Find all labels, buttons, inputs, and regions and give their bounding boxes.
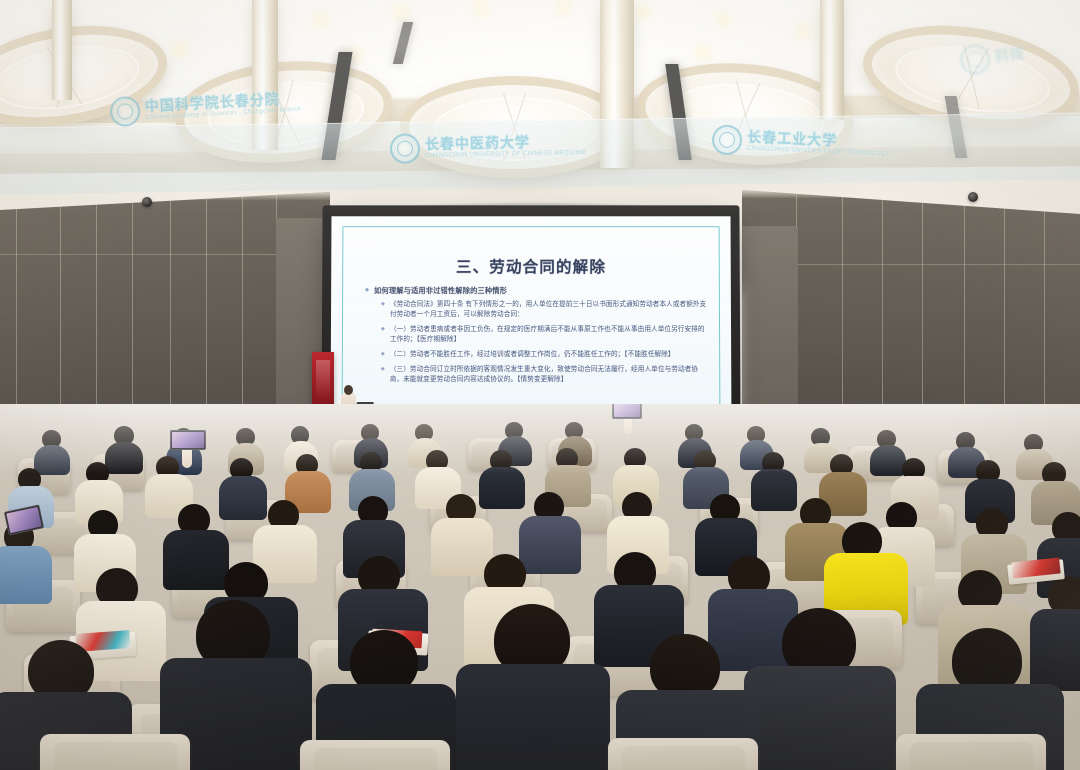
- chair: [300, 740, 450, 770]
- slide-body: ◆ 如何理解与适用非过错性解除的三种情形 ◆ 《劳动合同法》第四十条 有下列情形…: [365, 286, 712, 390]
- slide-bullet-level2: ◆ （一）劳动者患病或者非因工负伤，在规定的医疗期满后不能从事原工作也不能从事由…: [381, 325, 711, 345]
- person-torso: [479, 467, 525, 509]
- ceiling-spotlight: [800, 28, 806, 34]
- speaker-head: [344, 385, 353, 395]
- sign-cucm: 长春中医药大学 CHANGCHUN UNIVERSITY OF CHINESE …: [390, 130, 587, 164]
- institution-seal-icon: [711, 124, 742, 155]
- slide-bullet-level2: ◆ （三）劳动合同订立时所依据的客观情况发生重大变化，致使劳动合同无法履行，经用…: [381, 365, 711, 385]
- ceiling-camera-icon: [968, 192, 978, 202]
- person-torso: [163, 530, 229, 590]
- mirrored-column: [820, 0, 844, 120]
- ceiling-spotlight: [700, 50, 706, 56]
- institution-seal-icon: [390, 133, 421, 164]
- phone-screen: [614, 404, 640, 417]
- bullet-dot-icon: ◆: [381, 365, 385, 385]
- chair: [40, 734, 190, 770]
- phone-screen: [172, 432, 204, 448]
- person-torso: [34, 445, 70, 475]
- person-torso: [456, 664, 610, 770]
- presentation-screen: 三、劳动合同的解除 ◆ 如何理解与适用非过错性解除的三种情形 ◆ 《劳动合同法》…: [321, 205, 740, 437]
- person-torso: [744, 666, 896, 770]
- ceiling-camera-icon: [142, 197, 152, 207]
- slide-bullet-level2: ◆ 《劳动合同法》第四十条 有下列情形之一的，用人单位在提前三十日以书面形式通知…: [381, 300, 711, 320]
- ceiling-spotlight: [176, 46, 182, 52]
- person-torso: [0, 546, 52, 604]
- chair: [608, 738, 758, 770]
- slide-title: 三、劳动合同的解除: [331, 255, 731, 277]
- institution-seal-icon: [109, 96, 141, 128]
- screen-top-curve: [319, 199, 744, 217]
- slide-bullet-text: （三）劳动合同订立时所依据的客观情况发生重大变化，致使劳动合同无法履行，经用人单…: [390, 365, 712, 385]
- ceiling-spotlight: [640, 8, 646, 14]
- phone-screen: [6, 507, 41, 533]
- bullet-dot-icon: ◆: [381, 350, 385, 360]
- screen-surface: 三、劳动合同的解除 ◆ 如何理解与适用非过错性解除的三种情形 ◆ 《劳动合同法》…: [331, 216, 732, 427]
- ceiling-spotlight: [720, 16, 726, 22]
- slide-bullet-level2: ◆ （二）劳动者不能胜任工作，经过培训或者调整工作岗位，仍不能胜任工作的；【不能…: [381, 350, 711, 360]
- ceiling-spotlight: [318, 18, 324, 24]
- ceiling-spotlight: [398, 10, 404, 16]
- person-torso: [219, 476, 267, 520]
- sign-name-cn: 科技: [994, 46, 1026, 64]
- slide-bullet-level1: ◆ 如何理解与适用非过错性解除的三种情形: [365, 286, 711, 296]
- ceiling-spotlight: [560, 4, 566, 10]
- institution-seal-icon: [958, 42, 992, 76]
- slide-bullet-text: 《劳动合同法》第四十条 有下列情形之一的，用人单位在提前三十日以书面形式通知劳动…: [390, 300, 711, 320]
- person-torso: [1030, 609, 1080, 691]
- university-sign-band: 中国科学院长春分院 Chinese Academy of Sciences , …: [0, 120, 1080, 200]
- lecture-hall-photo: 中国科学院长春分院 Chinese Academy of Sciences , …: [0, 0, 1080, 770]
- ceiling-spotlight: [352, 52, 358, 58]
- person-torso: [519, 516, 581, 574]
- bullet-dot-icon: ◆: [381, 325, 385, 345]
- sign-name-cn: 长春中医药大学: [425, 134, 587, 151]
- slide-bullet-text: （二）劳动者不能胜任工作，经过培训或者调整工作岗位，仍不能胜任工作的；【不能胜任…: [390, 350, 675, 360]
- person-torso: [751, 469, 797, 511]
- person-torso: [870, 445, 906, 476]
- slide-bullet-text: （一）劳动者患病或者非因工负伤，在规定的医疗期满后不能从事原工作也不能从事由用人…: [390, 325, 711, 345]
- bullet-dot-icon: ◆: [365, 286, 369, 296]
- ceiling-spotlight: [478, 5, 484, 11]
- audience-seating: [0, 404, 1080, 770]
- smartphone-icon: [170, 430, 206, 450]
- slide-bullet-text: 如何理解与适用非过错性解除的三种情形: [374, 286, 507, 296]
- bullet-dot-icon: ◆: [381, 300, 385, 320]
- mirrored-column: [52, 0, 72, 100]
- smartphone-icon: [612, 404, 642, 419]
- person-torso: [431, 518, 493, 576]
- person-torso: [105, 442, 143, 474]
- chair: [896, 734, 1046, 770]
